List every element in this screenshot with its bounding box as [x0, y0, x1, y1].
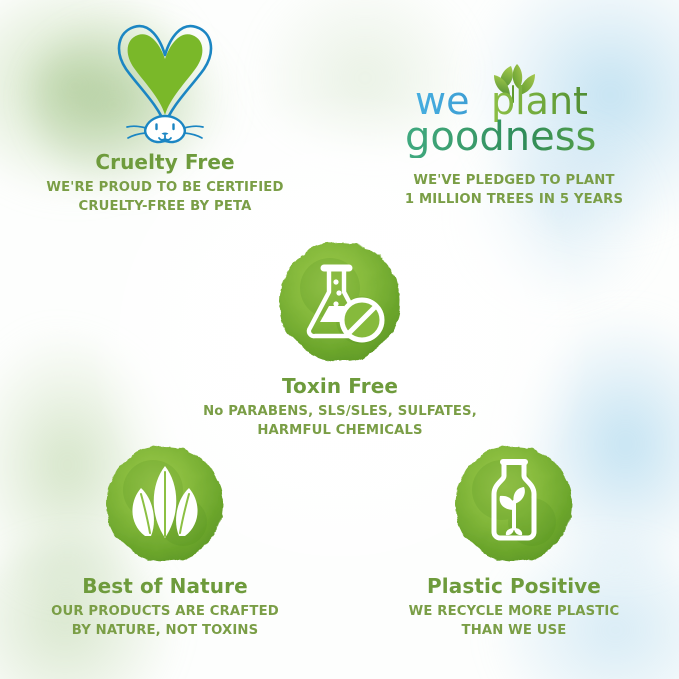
badge-description-we-plant-goodness: WE'VE PLEDGED TO PLANT 1 MILLION TREES I… [349, 172, 679, 209]
flask-no-toxins-icon [274, 236, 406, 368]
badge-description-plastic-positive: WE RECYCLE MORE PLASTIC THAN WE USE [349, 603, 679, 640]
desc-line: WE'VE PLEDGED TO PLANT [349, 172, 679, 191]
brand-promise-infographic: Cruelty Free WE'RE PROUD TO BE CERTIFIED… [0, 0, 679, 679]
logo-word-goodness: goodness [405, 114, 596, 158]
prohibition-sign [342, 300, 382, 340]
badge-title-best-of-nature: Best of Nature [0, 574, 330, 598]
desc-line: WE RECYCLE MORE PLASTIC [349, 603, 679, 622]
flask-bubble-2 [336, 290, 341, 295]
desc-line: WE'RE PROUD TO BE CERTIFIED [0, 179, 330, 198]
desc-line: CRUELTY-FREE BY PETA [0, 198, 330, 217]
badge-description-toxin-free: No PARABENS, SLS/SLES, SULFATES, HARMFUL… [175, 403, 505, 440]
badge-title-cruelty-free: Cruelty Free [0, 150, 330, 174]
peta-bunny-heart-icon [102, 12, 228, 144]
flask-bubble-3 [333, 301, 338, 306]
desc-line: HARMFUL CHEMICALS [175, 422, 505, 441]
toxin-free-icon-wrap [175, 236, 505, 368]
we-plant-goodness-logo-wrap: we plant goodness [349, 58, 679, 158]
best-of-nature-icon-wrap [0, 440, 330, 568]
we-plant-goodness-logo: we plant goodness [399, 58, 629, 158]
bottle-sprout-icon [450, 440, 578, 568]
three-leaves-icon [101, 440, 229, 568]
badge-plastic-positive: Plastic Positive WE RECYCLE MORE PLASTIC… [349, 440, 679, 640]
desc-line: OUR PRODUCTS ARE CRAFTED [0, 603, 330, 622]
desc-line: 1 MILLION TREES IN 5 YEARS [349, 191, 679, 210]
badge-description-best-of-nature: OUR PRODUCTS ARE CRAFTED BY NATURE, NOT … [0, 603, 330, 640]
badge-description-cruelty-free: WE'RE PROUD TO BE CERTIFIED CRUELTY-FREE… [0, 179, 330, 216]
badge-we-plant-goodness: we plant goodness WE'VE PLEDGED TO PLANT… [349, 58, 679, 209]
desc-line: BY NATURE, NOT TOXINS [0, 622, 330, 641]
plastic-positive-icon-wrap [349, 440, 679, 568]
cruelty-free-icon-wrap [0, 12, 330, 144]
desc-line: THAN WE USE [349, 622, 679, 641]
badge-best-of-nature: Best of Nature OUR PRODUCTS ARE CRAFTED … [0, 440, 330, 640]
badge-toxin-free: Toxin Free No PARABENS, SLS/SLES, SULFAT… [175, 236, 505, 440]
flask-bubble-4 [329, 325, 334, 330]
heart-green-fill [128, 34, 203, 115]
flask-bubble-1 [333, 279, 338, 284]
badge-cruelty-free: Cruelty Free WE'RE PROUD TO BE CERTIFIED… [0, 12, 330, 216]
badge-title-plastic-positive: Plastic Positive [349, 574, 679, 598]
badge-title-toxin-free: Toxin Free [175, 374, 505, 398]
desc-line: No PARABENS, SLS/SLES, SULFATES, [175, 403, 505, 422]
